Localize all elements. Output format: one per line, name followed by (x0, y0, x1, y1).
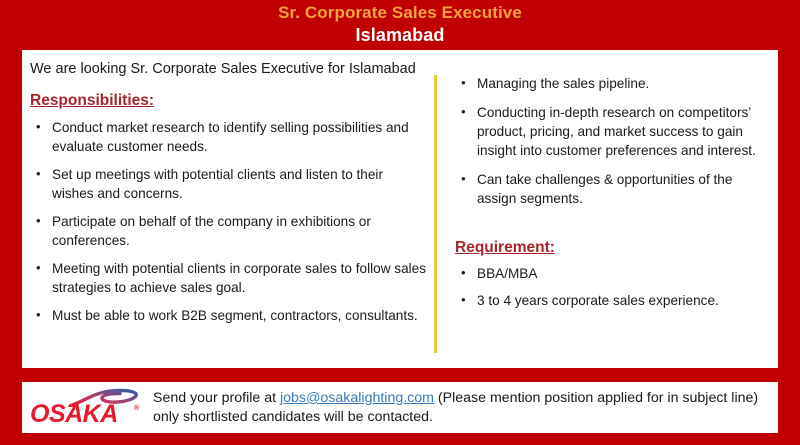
responsibilities-heading: Responsibilities: (26, 91, 154, 111)
list-item: BBA/MBA (449, 264, 772, 283)
list-item: Managing the sales pipeline. (449, 74, 772, 93)
list-item: 3 to 4 years corporate sales experience. (449, 291, 772, 310)
job-title: Sr. Corporate Sales Executive (0, 1, 800, 24)
list-item: Participate on behalf of the company in … (26, 212, 428, 250)
registered-trademark-icon: ® (134, 405, 139, 412)
main-content-panel: We are looking Sr. Corporate Sales Execu… (22, 50, 778, 368)
requirement-heading: Requirement: (449, 238, 555, 258)
responsibilities-list: Conduct market research to identify sell… (26, 118, 428, 325)
responsibilities-heading-wrap: Responsibilities: (26, 85, 428, 118)
list-item: Conducting in-depth research on competit… (449, 103, 772, 160)
footer-text-before-email: Send your profile at (153, 390, 280, 406)
list-item: Can take challenges & opportunities of t… (449, 170, 772, 208)
job-location: Islamabad (0, 24, 800, 47)
poster-header: Sr. Corporate Sales Executive Islamabad (0, 0, 800, 50)
responsibilities-list-continued: Managing the sales pipeline. Conducting … (449, 74, 772, 208)
list-item: Conduct market research to identify sell… (26, 118, 428, 156)
requirement-heading-wrap: Requirement: (449, 218, 772, 264)
footer-panel: OSAKA ® Send your profile at jobs@osakal… (22, 382, 778, 433)
list-item: Meeting with potential clients in corpor… (26, 259, 428, 297)
list-item: Set up meetings with potential clients a… (26, 165, 428, 203)
job-posting-poster: Sr. Corporate Sales Executive Islamabad … (0, 0, 800, 445)
email-link[interactable]: jobs@osakalighting.com (280, 390, 434, 406)
footer-instruction-text: Send your profile at jobs@osakalighting.… (153, 389, 768, 427)
list-item: Must be able to work B2B segment, contra… (26, 306, 428, 325)
column-divider (434, 75, 437, 353)
requirement-list: BBA/MBA 3 to 4 years corporate sales exp… (449, 264, 772, 310)
intro-paragraph: We are looking Sr. Corporate Sales Execu… (26, 59, 428, 79)
logo-wordmark: OSAKA (30, 401, 118, 427)
osaka-logo: OSAKA ® (30, 385, 146, 430)
right-column: Managing the sales pipeline. Conducting … (443, 50, 778, 368)
left-column: We are looking Sr. Corporate Sales Execu… (22, 50, 432, 368)
